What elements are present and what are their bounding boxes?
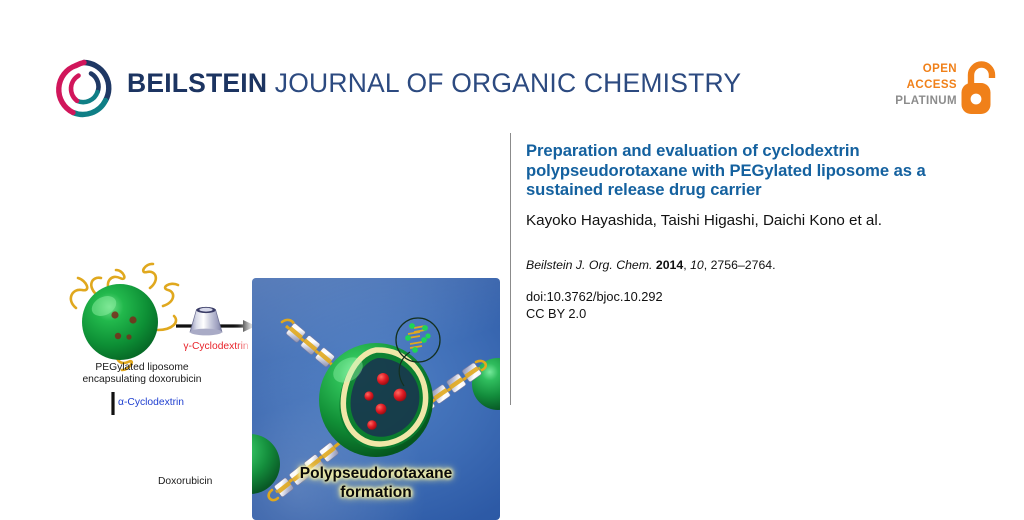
label-liposome-line1: PEGylated liposome bbox=[95, 362, 188, 373]
journal-wordmark[interactable]: BEILSTEIN JOURNAL OF ORGANIC CHEMISTRY bbox=[127, 70, 741, 97]
graphical-abstract[interactable]: PEGylated liposome encapsulating doxorub… bbox=[0, 130, 505, 415]
citation-year: 2014 bbox=[656, 258, 683, 272]
panel-caption: Polypseudorotaxane formation bbox=[260, 465, 492, 502]
citation-sep-1: , bbox=[683, 258, 686, 272]
open-access-badge[interactable]: OPEN ACCESS PLATINUM bbox=[881, 58, 999, 120]
citation-end: . bbox=[772, 258, 775, 272]
citation-sep-2: , bbox=[704, 258, 707, 272]
open-padlock-icon bbox=[959, 58, 999, 116]
oa-line-access: ACCESS bbox=[881, 77, 957, 93]
journal-article-card: BEILSTEIN JOURNAL OF ORGANIC CHEMISTRY O… bbox=[0, 0, 1024, 512]
article-meta: Preparation and evaluation of cyclodextr… bbox=[526, 141, 956, 323]
label-pegylated-liposome: PEGylated liposome encapsulating doxorub… bbox=[57, 362, 227, 387]
beilstein-spiral-logo-icon[interactable] bbox=[53, 57, 115, 119]
article-doi[interactable]: doi:10.3762/bjoc.10.292 bbox=[526, 288, 956, 306]
article-identifiers: doi:10.3762/bjoc.10.292 CC BY 2.0 bbox=[526, 288, 956, 323]
citation-pages: 2756–2764 bbox=[711, 258, 773, 272]
article-title[interactable]: Preparation and evaluation of cyclodextr… bbox=[526, 141, 956, 200]
site-header: BEILSTEIN JOURNAL OF ORGANIC CHEMISTRY O… bbox=[0, 0, 1024, 140]
label-gamma-cyclodextrin: γ-Cyclodextrin bbox=[170, 341, 262, 353]
article-citation: Beilstein J. Org. Chem. 2014, 10, 2756–2… bbox=[526, 257, 956, 273]
article-license[interactable]: CC BY 2.0 bbox=[526, 305, 956, 323]
oa-line-open: OPEN bbox=[881, 61, 957, 77]
vertical-divider bbox=[510, 133, 511, 405]
wordmark-beilstein: BEILSTEIN bbox=[127, 68, 267, 98]
citation-volume: 10 bbox=[690, 258, 704, 272]
label-alpha-cyclodextrin: α-Cyclodextrin bbox=[118, 397, 214, 409]
open-access-label: OPEN ACCESS PLATINUM bbox=[881, 61, 957, 110]
panel-caption-line2: formation bbox=[340, 484, 411, 501]
panel-caption-line1: Polypseudorotaxane bbox=[300, 465, 452, 482]
wordmark-subtitle bbox=[267, 68, 275, 98]
polypseudorotaxane-panel[interactable]: Polypseudorotaxane formation bbox=[252, 278, 500, 520]
oa-line-platinum: PLATINUM bbox=[881, 93, 957, 109]
label-liposome-line2: encapsulating doxorubicin bbox=[82, 374, 201, 385]
article-authors: Kayoko Hayashida, Taishi Higashi, Daichi… bbox=[526, 211, 956, 231]
wordmark-journal-of-organic-chemistry: JOURNAL OF ORGANIC CHEMISTRY bbox=[275, 68, 741, 98]
citation-journal: Beilstein J. Org. Chem. bbox=[526, 258, 652, 272]
label-doxorubicin: Doxorubicin bbox=[158, 476, 228, 488]
